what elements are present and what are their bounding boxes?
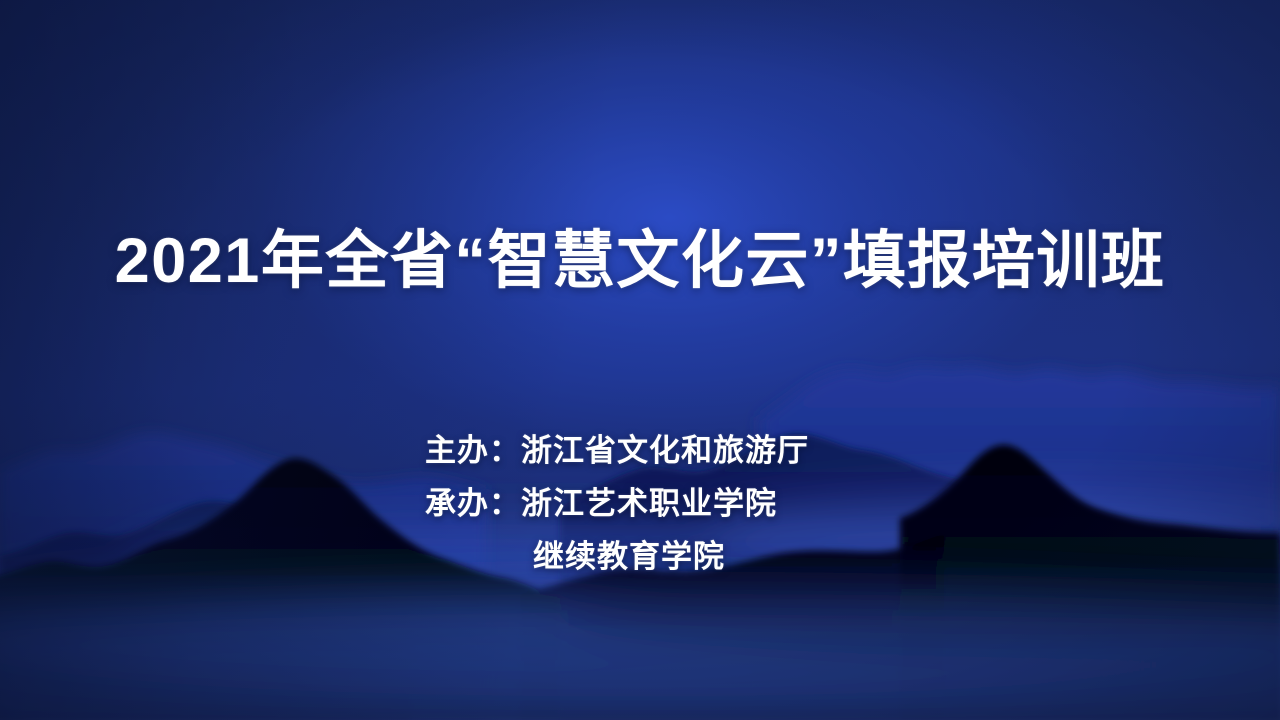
corner-vignette <box>0 0 1280 720</box>
slide-title: 2021年全省“智慧文化云”填报培训班 <box>115 228 1166 295</box>
organizer-line-department: 继续教育学院 <box>425 530 855 583</box>
organizer-line-host: 主办：浙江省文化和旅游厅 <box>425 424 855 477</box>
title-slide: 2021年全省“智慧文化云”填报培训班 主办：浙江省文化和旅游厅 承办：浙江艺术… <box>0 0 1280 720</box>
title-container: 2021年全省“智慧文化云”填报培训班 <box>0 228 1280 295</box>
organizer-block: 主办：浙江省文化和旅游厅 承办：浙江艺术职业学院 继续教育学院 <box>425 424 855 583</box>
organizer-line-undertaker: 承办：浙江艺术职业学院 <box>425 477 855 530</box>
organizer-container: 主办：浙江省文化和旅游厅 承办：浙江艺术职业学院 继续教育学院 <box>0 424 1280 583</box>
